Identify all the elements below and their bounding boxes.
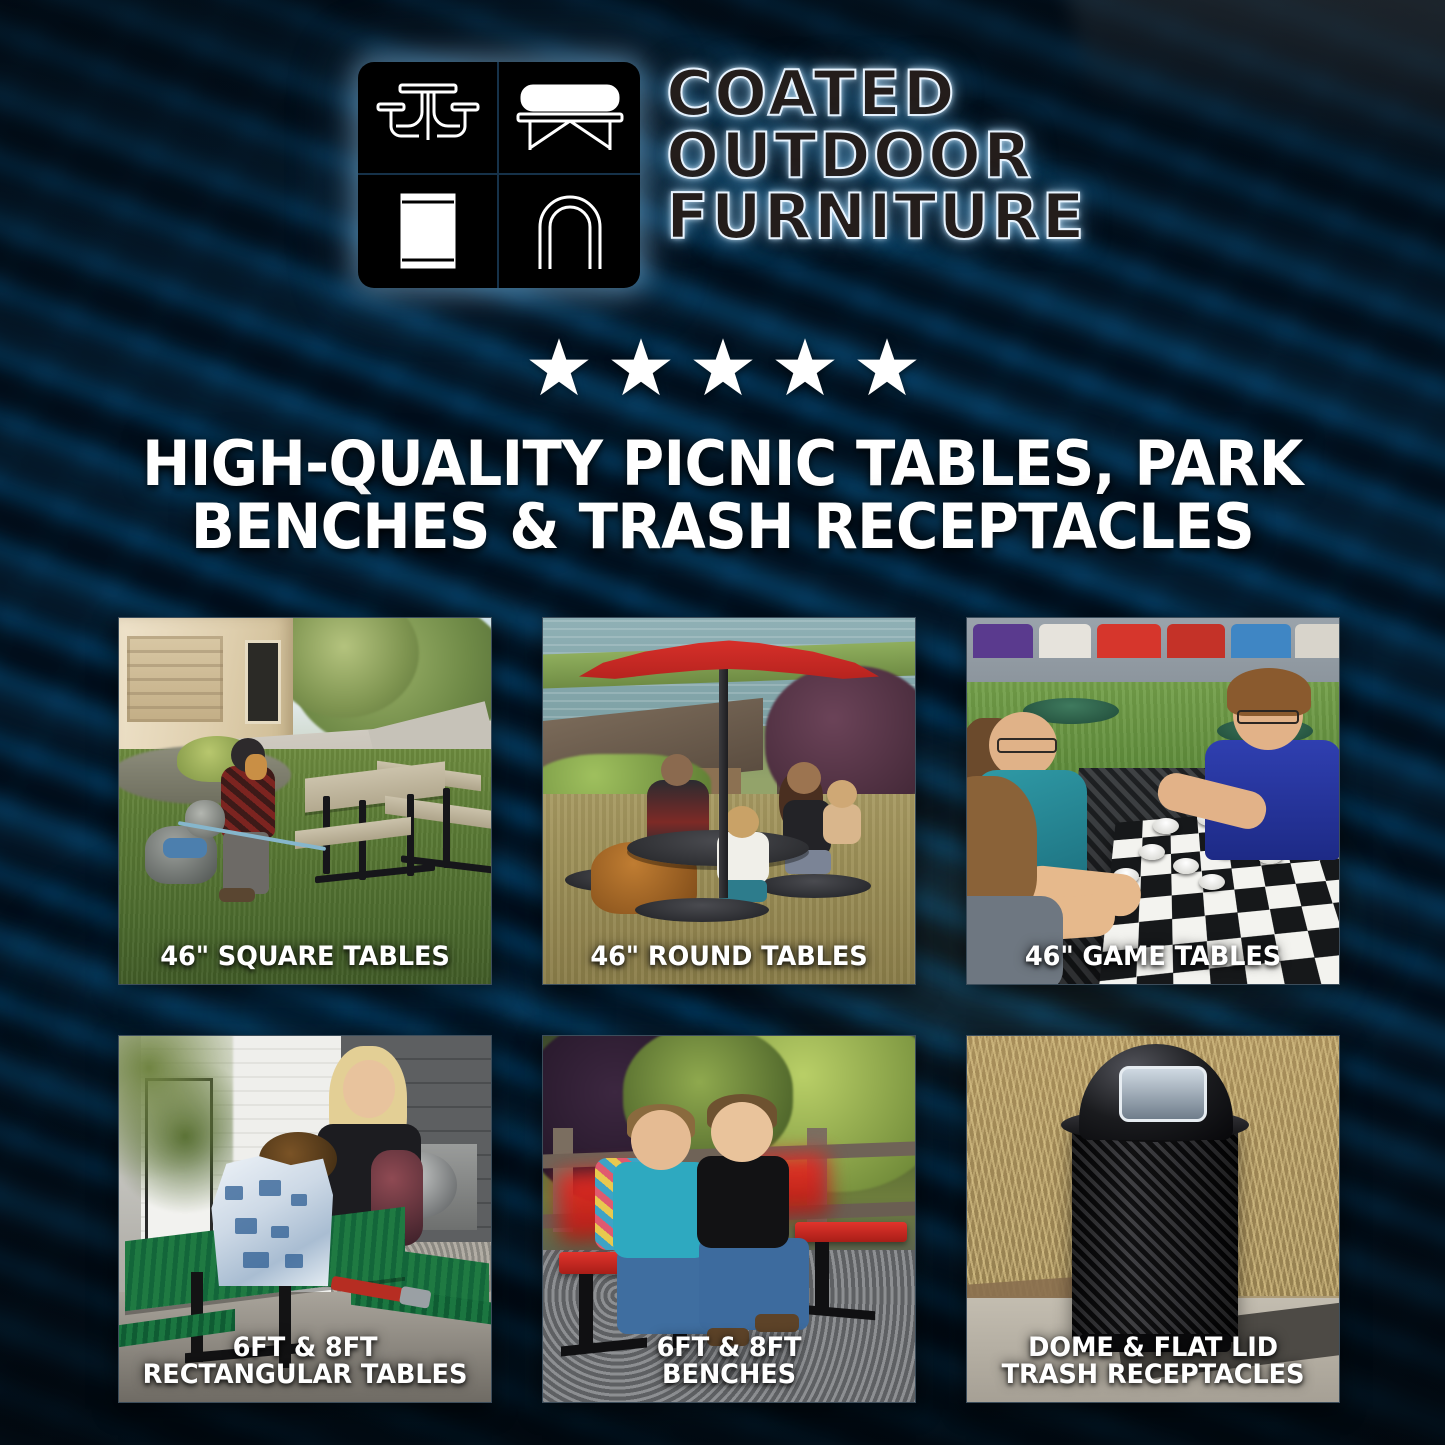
page-title: HIGH-QUALITY PICNIC TABLES, PARK BENCHES…: [60, 432, 1385, 558]
brand-wordmark: COATED OUTDOOR FURNITURE: [666, 62, 1086, 247]
bike-rack-arch-icon: [499, 175, 640, 288]
star-icon: [774, 338, 836, 398]
promotional-poster: COATED OUTDOOR FURNITURE HIGH-QUALITY PI…: [0, 0, 1445, 1445]
tile-caption-line-2: BENCHES: [558, 1361, 900, 1388]
star-icon: [856, 338, 918, 398]
product-tile-trash-receptacles[interactable]: DOME & FLAT LID TRASH RECEPTACLES: [966, 1035, 1340, 1403]
brand-name-line-2: OUTDOOR: [666, 126, 1033, 186]
headline-line-2: BENCHES & TRASH RECEPTACLES: [106, 495, 1338, 558]
brand-name-line-1: COATED: [666, 64, 957, 124]
product-photo-square-tables: [119, 618, 491, 984]
star-icon: [528, 338, 590, 398]
star-icon: [692, 338, 754, 398]
logo-icon-grid: [358, 62, 640, 288]
brand-name-line-3: FURNITURE: [666, 187, 1086, 247]
park-bench-icon: [499, 62, 640, 175]
tile-caption-line-1: 6FT & 8FT: [134, 1334, 476, 1361]
headline-line-1: HIGH-QUALITY PICNIC TABLES, PARK: [106, 432, 1338, 495]
star-rating: [0, 338, 1445, 398]
tile-caption: 6FT & 8FT RECTANGULAR TABLES: [125, 1334, 485, 1388]
tile-caption: 46" ROUND TABLES: [549, 943, 909, 970]
tile-caption: DOME & FLAT LID TRASH RECEPTACLES: [973, 1334, 1333, 1388]
product-tile-square-tables[interactable]: 46" SQUARE TABLES: [118, 617, 492, 985]
tile-caption: 6FT & 8FT BENCHES: [549, 1334, 909, 1388]
tile-caption-line-1: 6FT & 8FT: [558, 1334, 900, 1361]
product-tile-rectangular-tables[interactable]: 6FT & 8FT RECTANGULAR TABLES: [118, 1035, 492, 1403]
tile-caption-line-1: 46" SQUARE TABLES: [134, 943, 476, 970]
product-tile-round-tables[interactable]: 46" ROUND TABLES: [542, 617, 916, 985]
tile-caption: 46" SQUARE TABLES: [125, 943, 485, 970]
tile-caption: 46" GAME TABLES: [973, 943, 1333, 970]
product-tile-benches[interactable]: 6FT & 8FT BENCHES: [542, 1035, 916, 1403]
tile-caption-line-1: DOME & FLAT LID: [982, 1334, 1324, 1361]
tile-caption-line-1: 46" GAME TABLES: [982, 943, 1324, 970]
product-tile-game-tables[interactable]: 46" GAME TABLES: [966, 617, 1340, 985]
trash-receptacle-icon: [358, 175, 499, 288]
picnic-table-icon: [358, 62, 499, 175]
tile-caption-line-2: TRASH RECEPTACLES: [982, 1361, 1324, 1388]
product-photo-round-tables: [543, 618, 915, 984]
star-icon: [610, 338, 672, 398]
tile-caption-line-1: 46" ROUND TABLES: [558, 943, 900, 970]
tile-caption-line-2: RECTANGULAR TABLES: [134, 1361, 476, 1388]
brand-logo: COATED OUTDOOR FURNITURE: [0, 62, 1445, 288]
product-photo-game-tables: [967, 618, 1339, 984]
product-tile-grid: 46" SQUARE TABLES: [118, 617, 1326, 1403]
